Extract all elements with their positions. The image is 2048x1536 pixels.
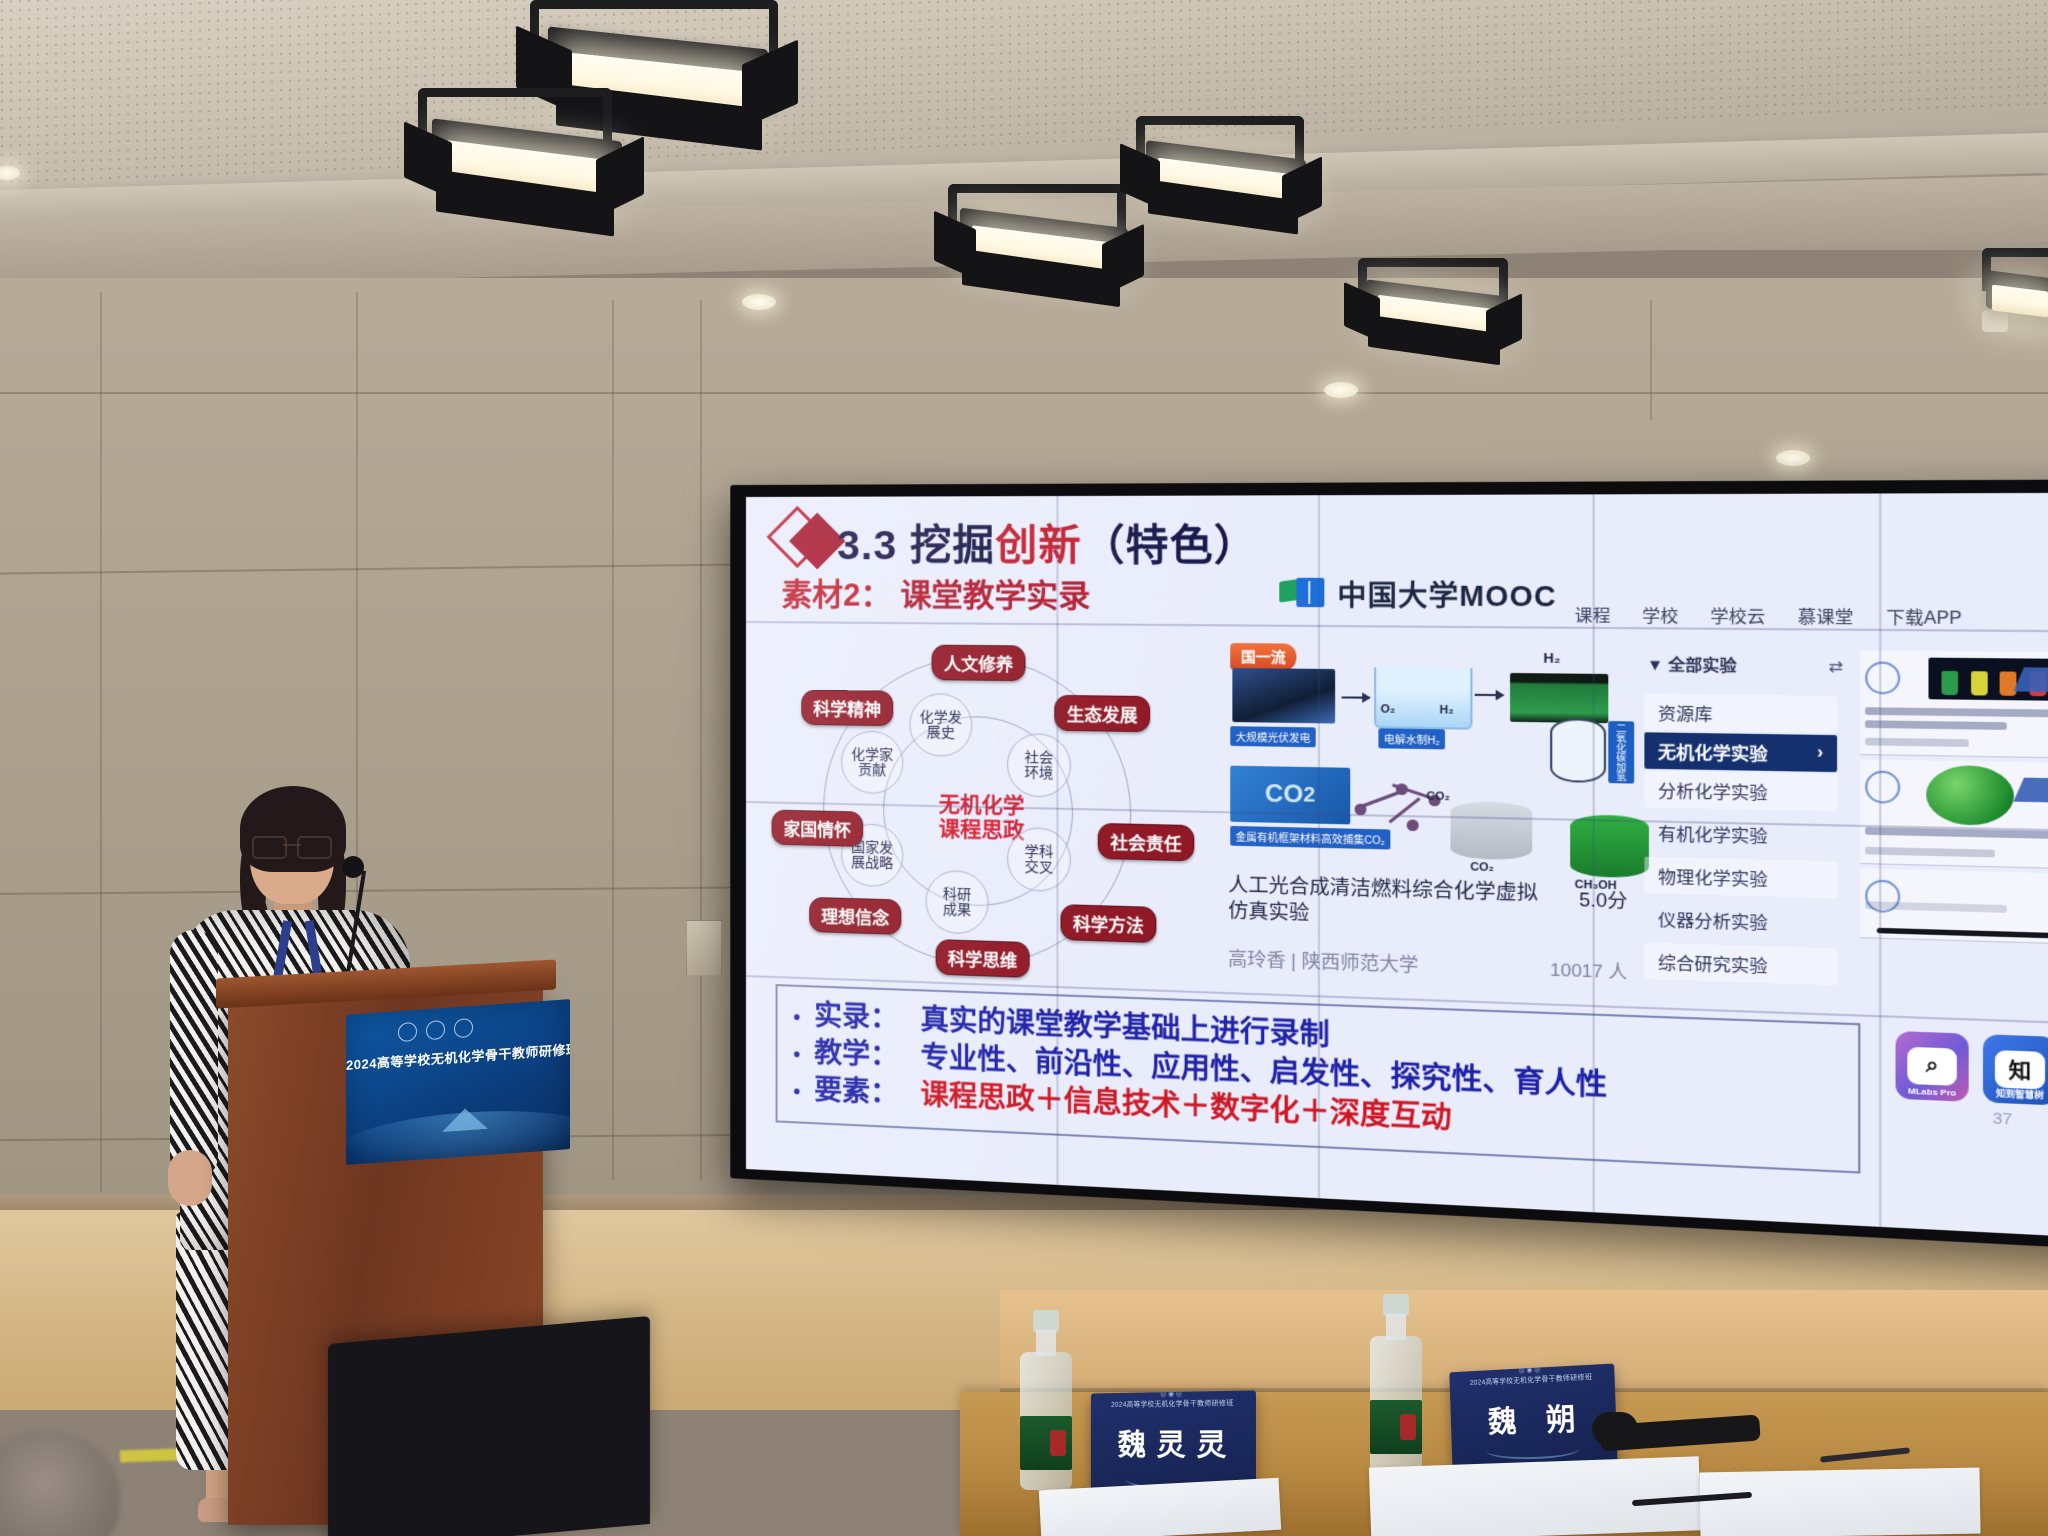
water-bottle-1[interactable] [1020,1310,1072,1490]
video-wall[interactable]: 3.3 挖掘创新（特色） 素材2： 课堂教学实录 中国大学MOOC 课程 学校 … [746,493,2048,1242]
bottle-cap [1033,1310,1059,1332]
menu-item-inorganic-chem[interactable]: 无机化学实验 › [1644,732,1837,772]
podium-banner-text: 2024高等学校无机化学骨干教师研修班 [346,1039,570,1074]
slide-title-tail: （特色） [1082,521,1259,569]
course-author: 高玲香 [1228,948,1286,971]
menu-item-instrumental[interactable]: 仪器分析实验 [1644,900,1837,942]
distillation-column-icon [1550,718,1606,783]
wheel-inner-node-3-text: 学科交叉 [1024,844,1053,875]
slide-subtitle-value: 课堂教学实录 [900,578,1090,615]
bullet-key-record: 实录： [814,998,906,1039]
bottle-cap [1383,1294,1409,1316]
tile-seam-v [1056,496,1058,1185]
bullet-key-elements: 要素： [814,1072,906,1113]
app-icon-zhidao-label: 知到智慧树 [1983,1087,2048,1102]
school-seal-icon [1865,770,1900,803]
placard-name-1: 魏灵灵 [1091,1419,1256,1464]
placard-wave-graphic [1486,1440,1579,1460]
menu-header-label: 全部实验 [1668,656,1736,675]
microphone-icon [342,856,364,878]
tile-seam-v [1879,493,1881,1226]
ceiling-downlight [742,294,776,310]
bottle-label [1370,1400,1422,1454]
flow-label-co2-hydrogenation: 二氧化碳加氢 [1608,721,1634,784]
bullet-key-teaching: 教学： [814,1035,906,1076]
electrolysis-cell-image [1374,667,1472,729]
ceiling-downlight [1776,450,1810,466]
wall-seam [100,292,102,1192]
app-icon-mlabs-label: MLabs Pro [1896,1086,1969,1099]
flow-label-co2-stream: CO₂ [1426,790,1449,803]
wheel-label-sci-spirit: 科学精神 [801,690,893,727]
slide-title: 3.3 挖掘创新（特色） [837,510,1258,572]
course-author-school: 高玲香 | 陕西师范大学 [1228,944,1418,977]
experiment-cards-column[interactable]: ☆ ☆ ☆ [1858,646,2048,1016]
bullet-dot-icon: • [793,1042,800,1069]
course-score: 5.0分 [1579,885,1627,914]
menu-header[interactable]: ▼ 全部实验 [1647,653,1737,676]
wheel-inner-node-2-text: 社会环境 [1024,750,1053,781]
wheel-label-humanistic: 人文修养 [932,645,1026,682]
tile-seam-v [1593,494,1595,1212]
experiment-thumbnail-catalyst [1926,765,2014,826]
video-wall-screen[interactable]: 3.3 挖掘创新（特色） 素材2： 课堂教学实录 中国大学MOOC 课程 学校 … [746,493,2048,1242]
mooc-brand: 中国大学MOOC [1279,573,1556,615]
course-enrolled: 10017 人 [1550,954,1627,983]
mooc-nav-item-download-app[interactable]: 下载APP [1886,603,1961,630]
mooc-brand-name: 中国大学MOOC [1337,573,1556,615]
school-seal-icon [1865,661,1900,694]
slide-subtitle: 素材2： 课堂教学实录 [781,569,1090,616]
bullet-dot-icon: • [793,1079,800,1106]
glasses-icon [252,836,332,856]
app-icons-row[interactable]: ⌕ MLabs Pro 知 知到智慧树 bilibili [1896,1031,2048,1109]
menu-item-analytical-chem[interactable]: 分析化学实验 [1644,771,1837,811]
wheel-inner-node-1: 化学发展史 [909,693,972,757]
card-ribbon-badge [2013,778,2048,804]
app-icon-mlabs-pro[interactable]: ⌕ MLabs Pro [1896,1031,1969,1102]
smoke-detector-icon [1982,310,2008,332]
wheel-inner-node-3: 学科交叉 [1007,827,1071,892]
wheel-inner-node-6-text: 化学家贡献 [851,747,893,777]
menu-item-physical-chem[interactable]: 物理化学实验 [1644,857,1837,899]
tank-label-co2: CO₂ [1470,861,1494,874]
flow-label-solar: 大规模光伏发电 [1230,726,1315,747]
presentation-slide: 3.3 挖掘创新（特色） 素材2： 课堂教学实录 中国大学MOOC 课程 学校 … [746,493,2048,1242]
mlabs-magnifier-icon: ⌕ [1907,1047,1957,1086]
name-placard-2: ◎ ◉ ◎ 2024高等学校无机化学骨干教师研修班 魏 朔 [1449,1363,1617,1469]
experiment-card-2[interactable]: ☆ [1860,759,2048,870]
bottle-label [1020,1416,1072,1470]
methanol-tank-icon [1570,814,1649,878]
screenshot-root: 3.3 挖掘创新（特色） 素材2： 课堂教学实录 中国大学MOOC 课程 学校 … [0,0,2048,1536]
slide-title-red: 创新 [995,522,1082,569]
ceiling-downlight [1324,382,1358,398]
chevron-down-icon: ▼ [1647,656,1664,674]
person-icon: 人 [1608,962,1627,983]
bullet-dot-icon: • [793,1005,800,1032]
wheel-label-social-resp: 社会责任 [1098,823,1194,861]
wheel-inner-node-2: 社会环境 [1007,733,1071,798]
flow-arrow-1 [1342,696,1370,698]
wall-seam [612,300,614,1180]
speaker-hand-left [168,1150,212,1206]
experiment-card-1[interactable]: ☆ [1860,650,2048,759]
wheel-inner-node-6: 化学家贡献 [841,730,903,794]
document-sheet-3[interactable] [1699,1468,1980,1536]
wheel-inner-node-4: 科研成果 [926,870,989,935]
podium-banner: 2024高等学校无机化学骨干教师研修班 [346,999,570,1165]
laptop-screen[interactable] [328,1316,650,1536]
wheel-label-sci-thinking: 科学思维 [936,939,1030,978]
wall-seam [1650,300,1652,420]
swap-icon[interactable]: ⇄ [1828,657,1843,677]
wheel-inner-node-4-text: 科研成果 [943,887,971,918]
mooc-nav[interactable]: 课程 学校 学校云 慕课堂 下载APP [1575,601,1962,629]
flow-label-electrolysis: 电解水制H₂ [1378,728,1445,749]
placard-name-2: 魏 朔 [1450,1392,1616,1442]
mooc-nav-item-schoolcloud[interactable]: 学校云 [1710,602,1765,628]
banner-wave-graphic [346,1103,570,1165]
slide-subtitle-label: 素材2： [781,577,891,613]
flow-label-h2: H₂ [1543,650,1560,666]
handheld-microphone [1592,1412,1638,1446]
course-title: 人工光合成清洁燃料综合化学虚拟仿真实验 [1228,874,1543,935]
audience-head-foreground [0,1430,120,1536]
co2-tank-icon [1450,801,1532,860]
chevron-right-icon: › [1817,744,1823,764]
wheel-label-patriotism: 家国情怀 [772,810,864,847]
menu-item-resource-library[interactable]: 资源库 [1644,694,1837,733]
app-icon-zhidao[interactable]: 知 知到智慧树 [1983,1034,2048,1105]
national-first-class-badge: 国一流 [1230,643,1296,671]
placard-header-1: 2024高等学校无机化学骨干教师研修班 [1091,1398,1256,1410]
document-sheet-2[interactable] [1369,1456,1701,1536]
wall-seam [700,300,702,1180]
flow-arrow-2 [1475,694,1504,696]
wheel-label-ecological: 生态发展 [1054,695,1150,732]
wheel-inner-node-1-text: 化学发展史 [919,710,962,740]
wheel-label-sci-method: 科学方法 [1061,904,1157,943]
wheel-label-ideals: 理想信念 [809,897,901,935]
slide-page-number: 37 [1992,1109,2012,1129]
flow-label-o2: O₂ [1381,703,1396,716]
menu-item-comprehensive[interactable]: 综合研究实验 [1644,942,1837,985]
flow-label-h2-cell: H₂ [1440,704,1454,717]
conference-emblems [398,1018,473,1042]
mooc-nav-item-schools[interactable]: 学校 [1642,601,1678,627]
mooc-nav-item-mooctang[interactable]: 慕课堂 [1798,602,1854,628]
water-bottle-2[interactable] [1370,1294,1422,1474]
menu-item-inorganic-chem-label: 无机化学实验 [1658,738,1768,766]
speaker-hair [240,786,346,872]
tile-seam-v [1318,495,1320,1198]
wall-speaker-box [686,920,722,976]
speaker-arm-left [170,930,218,1180]
wall-seam [0,392,2048,394]
slide-section-number: 3.3 [837,522,897,569]
slide-title-black: 挖掘 [910,522,995,569]
zhidao-glyph-icon: 知 [1995,1050,2045,1089]
course-separator: | [1291,950,1296,971]
course-enrolled-count: 10017 [1550,960,1603,982]
